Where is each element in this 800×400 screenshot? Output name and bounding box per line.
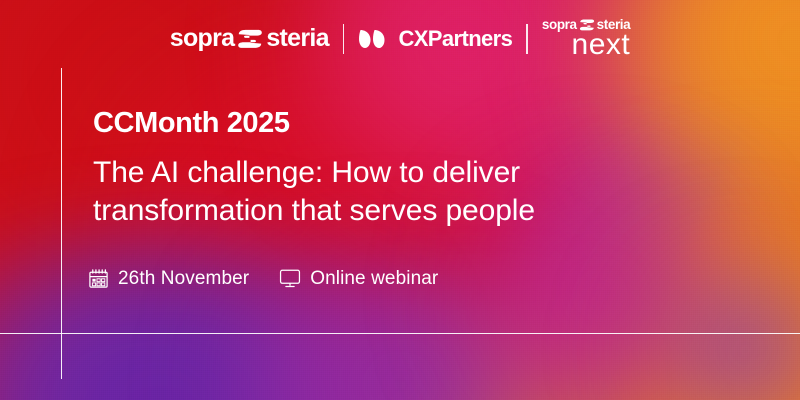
meta-item-format: Online webinar [279,268,438,289]
webinar-promo-banner: sopra steria CXPartners sopra [0,0,800,400]
logo-divider-one [343,24,345,54]
banner-content: CCMonth 2025 The AI challenge: How to de… [93,108,693,229]
logo-bar: sopra steria CXPartners sopra [0,18,800,60]
page-title: CCMonth 2025 [93,108,693,140]
meta-row: 26th November Online webinar [88,268,438,289]
gradient-blob-orange-bottom-center [300,330,680,400]
logo-divider-two [526,24,528,54]
cxpartners-label: CXPartners [398,28,512,50]
calendar-icon [88,268,109,289]
logo-sopra-steria-next[interactable]: sopra steria next [542,18,630,60]
logo-cxpartners[interactable]: CXPartners [358,27,512,51]
logo-sopra-steria[interactable]: sopra steria [170,26,329,51]
cxpartners-mark-icon [358,27,390,51]
steria-word: steria [266,26,329,51]
meta-label-date: 26th November [118,269,249,288]
monitor-icon [279,268,301,289]
gradient-blob-violet-right [620,250,800,400]
horizontal-rule [0,333,800,334]
sopra-word: sopra [170,26,235,51]
next-word: next [572,30,631,60]
meta-label-format: Online webinar [310,269,438,288]
sopra-steria-swoosh-icon [237,29,263,49]
meta-item-date: 26th November [88,268,249,289]
headline: The AI challenge: How to deliver transfo… [93,154,653,230]
